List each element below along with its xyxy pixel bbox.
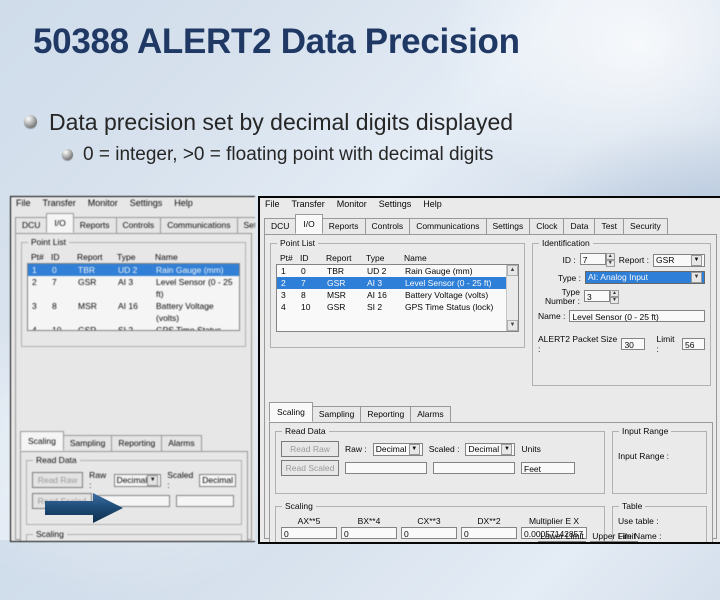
- scaling-label: Scaling: [282, 501, 316, 511]
- menu-transfer[interactable]: Transfer: [43, 198, 76, 213]
- id-field[interactable]: 7: [580, 253, 606, 265]
- tab-alarms[interactable]: Alarms: [410, 406, 450, 422]
- spinner-up-icon[interactable]: ▲: [606, 253, 615, 260]
- packet-size-label: ALERT2 Packet Size :: [538, 334, 617, 354]
- cell-type: SI 2: [118, 324, 156, 331]
- point-list[interactable]: 1 0 TBR UD 2 Rain Gauge (mm) 2 7 GSR AI …: [276, 264, 519, 332]
- use-table-label: Use table :: [618, 516, 701, 526]
- callout-arrow-icon: [45, 493, 123, 523]
- input-range-group: Input Range Input Range :: [612, 431, 707, 494]
- scaled-format-value: Decimal: [468, 443, 499, 456]
- tab-communications[interactable]: Communications: [409, 218, 486, 234]
- tab-io[interactable]: I/O: [295, 214, 322, 234]
- tab-clock[interactable]: Clock: [529, 218, 564, 234]
- point-list-header: Pt# ID Report Type Name: [276, 253, 519, 264]
- scaled-format-value: Decimal: [202, 474, 233, 487]
- page-title: 50388 ALERT2 Data Precision: [33, 22, 693, 62]
- upper-limit-field[interactable]: 25: [590, 541, 638, 544]
- tab-panel-right: Point List Pt# ID Report Type Name 1 0 T…: [264, 234, 717, 539]
- report-value: GSR: [656, 254, 674, 267]
- scroll-up-icon[interactable]: ▲: [507, 265, 518, 276]
- bullet-text: Data precision set by decimal digits dis…: [49, 108, 513, 137]
- cell-type: AI 16: [118, 300, 156, 324]
- id-stepper[interactable]: 7 ▲▼: [580, 253, 615, 267]
- type-number-label: Type Number :: [538, 288, 580, 306]
- cell-report: MSR: [78, 300, 118, 324]
- point-list-header: Pt# ID Report Type Name: [27, 252, 240, 263]
- menu-help[interactable]: Help: [423, 199, 442, 214]
- tabstrip-right[interactable]: DCU I/O Reports Controls Communications …: [264, 218, 720, 234]
- raw-format-select[interactable]: Decimal ▼: [114, 474, 162, 487]
- col-type: Type: [117, 252, 155, 262]
- chevron-down-icon[interactable]: ▼: [501, 444, 512, 455]
- scaled-format-select[interactable]: Decimal ▼: [465, 443, 515, 456]
- cell-name: Level Sensor (0 - 25 ft): [405, 277, 518, 289]
- input-range-label: Input Range: [619, 426, 671, 436]
- list-item: Data precision set by decimal digits dis…: [24, 108, 714, 137]
- bullet-sphere-icon: [62, 149, 73, 160]
- tab-scaling[interactable]: Scaling: [269, 402, 313, 422]
- cell-pt: 4: [281, 301, 301, 313]
- multiplier-label: Multiplier E X: [521, 516, 587, 526]
- cell-id: 10: [52, 324, 78, 331]
- tab-data[interactable]: Data: [563, 218, 595, 234]
- cell-pt: 1: [281, 265, 301, 277]
- menu-settings[interactable]: Settings: [379, 199, 412, 214]
- tab-reporting[interactable]: Reporting: [111, 435, 162, 451]
- cell-report: TBR: [327, 265, 367, 277]
- cell-report: GSR: [78, 276, 118, 300]
- menu-help[interactable]: Help: [174, 198, 193, 213]
- menu-monitor[interactable]: Monitor: [337, 199, 367, 214]
- cell-name: Battery Voltage (volts): [156, 300, 239, 324]
- read-raw-button[interactable]: Read Raw: [32, 472, 83, 488]
- tab-test[interactable]: Test: [594, 218, 624, 234]
- cell-pt: 2: [281, 277, 301, 289]
- tabstrip-left[interactable]: DCU I/O Reports Controls Communications …: [15, 217, 255, 233]
- units-field[interactable]: Feet: [521, 462, 575, 474]
- name-label: Name :: [538, 311, 565, 321]
- cell-name: GPS Time Status (lock): [405, 301, 518, 313]
- limit-label: Limit :: [657, 334, 678, 354]
- raw-label: Raw :: [345, 444, 367, 454]
- inner-tabstrip-left[interactable]: Scaling Sampling Reporting Alarms: [20, 435, 251, 451]
- identification-label: Identification: [539, 238, 593, 248]
- raw-format-select[interactable]: Decimal ▼: [373, 443, 423, 456]
- raw-format-value: Decimal: [376, 443, 407, 456]
- cell-type: UD 2: [118, 264, 156, 276]
- cell-name: Battery Voltage (volts): [405, 289, 518, 301]
- scroll-down-icon[interactable]: ▼: [507, 320, 518, 331]
- units-label: Units: [521, 444, 540, 454]
- cell-id: 10: [301, 301, 327, 313]
- tab-dcu[interactable]: DCU: [264, 218, 296, 234]
- list-item: 0 = integer, >0 = floating point with de…: [62, 143, 714, 167]
- name-field[interactable]: Level Sensor (0 - 25 ft): [569, 310, 705, 322]
- cell-name: Level Sensor (0 - 25 ft): [156, 276, 239, 300]
- lower-limit-field[interactable]: 0: [538, 541, 586, 544]
- coeff-d-field[interactable]: 0: [461, 527, 517, 539]
- coeff-label-b: BX**4: [341, 516, 397, 526]
- menu-file[interactable]: File: [265, 199, 280, 214]
- table-row[interactable]: 2 7 GSR AI 3 Level Sensor (0 - 25 ft): [28, 276, 239, 300]
- spinner-up-icon[interactable]: ▲: [610, 290, 619, 297]
- cell-pt: 3: [281, 289, 301, 301]
- raw-label: Raw :: [89, 470, 107, 490]
- scaling-label: Scaling: [33, 529, 67, 539]
- cell-type: AI 3: [118, 276, 156, 300]
- table-row[interactable]: 3 8 MSR AI 16 Battery Voltage (volts): [277, 289, 518, 301]
- cell-name: GPS Time Status (lock): [156, 324, 239, 331]
- cell-type: UD 2: [367, 265, 405, 277]
- read-raw-button[interactable]: Read Raw: [281, 441, 339, 457]
- menubar-left[interactable]: File Transfer Monitor Settings Help: [11, 197, 255, 213]
- cell-id: 7: [301, 277, 327, 289]
- cell-type: AI 16: [367, 289, 405, 301]
- cell-pt: 3: [32, 300, 52, 324]
- cell-report: GSR: [327, 277, 367, 289]
- scaled-value-field[interactable]: [176, 495, 234, 507]
- menu-transfer[interactable]: Transfer: [292, 199, 325, 214]
- menu-settings[interactable]: Settings: [130, 198, 163, 213]
- screenshot-left: File Transfer Monitor Settings Help DCU …: [10, 196, 255, 542]
- cell-name: Rain Gauge (mm): [405, 265, 518, 277]
- menubar-right[interactable]: File Transfer Monitor Settings Help: [260, 198, 720, 214]
- chevron-down-icon[interactable]: ▼: [691, 255, 702, 266]
- point-list-group: Point List Pt# ID Report Type Name 1 0 T…: [270, 243, 525, 348]
- type-number-stepper[interactable]: 3 ▲▼: [584, 290, 619, 304]
- type-value: AI: Analog Input: [588, 271, 648, 284]
- cell-report: GSR: [78, 324, 118, 331]
- point-list-label: Point List: [277, 238, 318, 248]
- col-pt: Pt#: [280, 253, 300, 263]
- table-row[interactable]: 1 0 TBR UD 2 Rain Gauge (mm): [28, 264, 239, 276]
- spinner-down-icon[interactable]: ▼: [606, 260, 615, 267]
- cell-id: 8: [301, 289, 327, 301]
- cell-report: GSR: [327, 301, 367, 313]
- col-report: Report: [326, 253, 366, 263]
- coeff-label-c: CX**3: [401, 516, 457, 526]
- packet-size-field[interactable]: 30: [621, 338, 644, 350]
- screenshot-right: File Transfer Monitor Settings Help DCU …: [258, 196, 720, 544]
- col-name: Name: [404, 253, 517, 263]
- coeff-c-field[interactable]: 0: [401, 527, 457, 539]
- tab-dcu[interactable]: DCU: [15, 217, 47, 233]
- tab-controls[interactable]: Controls: [365, 218, 411, 234]
- inner-tabstrip-right[interactable]: Scaling Sampling Reporting Alarms: [269, 406, 716, 422]
- report-select[interactable]: GSR ▼: [653, 254, 705, 267]
- table-row[interactable]: 2 7 GSR AI 3 Level Sensor (0 - 25 ft): [277, 277, 518, 289]
- col-name: Name: [155, 252, 238, 262]
- read-data-label: Read Data: [282, 426, 329, 436]
- cell-id: 0: [52, 264, 78, 276]
- tab-io[interactable]: I/O: [46, 213, 73, 233]
- cell-id: 8: [52, 300, 78, 324]
- point-list-label: Point List: [28, 237, 69, 247]
- cell-pt: 4: [32, 324, 52, 331]
- col-id: ID: [51, 252, 77, 262]
- scaling-group-left: Scaling AX**5 BX**4 CX**3 DX**2 0 0 0 0: [26, 534, 242, 542]
- input-range-field-label: Input Range :: [618, 451, 701, 461]
- screenshot-strip: File Transfer Monitor Settings Help DCU …: [10, 196, 720, 540]
- table-row[interactable]: 3 8 MSR AI 16 Battery Voltage (volts): [28, 300, 239, 324]
- table-row[interactable]: 4 10 GSR SI 2 GPS Time Status (lock): [277, 301, 518, 313]
- point-list-scrollbar[interactable]: ▲ ▼: [506, 265, 518, 331]
- scaled-label: Scaled :: [429, 444, 460, 454]
- type-number-field[interactable]: 3: [584, 290, 610, 302]
- point-list-group: Point List Pt# ID Report Type Name 1 0 T…: [21, 242, 246, 347]
- scaled-label: Scaled :: [167, 470, 193, 490]
- point-list[interactable]: 1 0 TBR UD 2 Rain Gauge (mm) 2 7 GSR AI …: [27, 263, 240, 331]
- tab-scaling[interactable]: Scaling: [20, 431, 64, 451]
- spinner-down-icon[interactable]: ▼: [610, 297, 619, 304]
- tab-reports[interactable]: Reports: [322, 218, 366, 234]
- chevron-down-icon[interactable]: ▼: [691, 272, 702, 283]
- scaled-value-field[interactable]: [433, 462, 515, 474]
- identification-group: Identification ID : 7 ▲▼ Report : GSR ▼: [532, 243, 711, 386]
- cell-type: AI 3: [367, 277, 405, 289]
- coeff-a-field[interactable]: 0: [281, 527, 337, 539]
- chevron-down-icon[interactable]: ▼: [147, 475, 158, 486]
- read-data-label: Read Data: [33, 455, 80, 465]
- read-data-group: Read Data Read Raw Raw : Decimal ▼ Scale…: [275, 431, 605, 494]
- type-select[interactable]: AI: Analog Input ▼: [585, 271, 705, 284]
- bullet-text: 0 = integer, >0 = floating point with de…: [83, 143, 493, 167]
- type-label: Type :: [558, 273, 581, 283]
- menu-file[interactable]: File: [16, 198, 31, 213]
- coeff-b-field[interactable]: 0: [341, 527, 397, 539]
- cell-name: Rain Gauge (mm): [156, 264, 239, 276]
- scaled-format-select[interactable]: Decimal: [199, 474, 236, 487]
- col-id: ID: [300, 253, 326, 263]
- cell-type: SI 2: [367, 301, 405, 313]
- cell-report: TBR: [78, 264, 118, 276]
- cell-report: MSR: [327, 289, 367, 301]
- limit-field[interactable]: 56: [682, 338, 705, 350]
- tab-security[interactable]: Security: [623, 218, 668, 234]
- tab-settings[interactable]: Settings: [237, 217, 256, 233]
- table-label: Table: [619, 501, 645, 511]
- col-report: Report: [77, 252, 117, 262]
- report-label: Report :: [619, 255, 649, 265]
- coeff-label-d: DX**2: [461, 516, 517, 526]
- raw-format-value: Decimal: [117, 474, 148, 487]
- cell-id: 0: [301, 265, 327, 277]
- col-type: Type: [366, 253, 404, 263]
- cell-id: 7: [52, 276, 78, 300]
- limits-row: Lower Limit 0 Upper Limit 25: [538, 531, 638, 544]
- tab-controls[interactable]: Controls: [116, 217, 162, 233]
- table-row[interactable]: 4 10 GSR SI 2 GPS Time Status (lock): [28, 324, 239, 331]
- raw-value-field[interactable]: [345, 462, 427, 474]
- tab-settings[interactable]: Settings: [486, 218, 531, 234]
- inner-tab-panel-right: Read Data Read Raw Raw : Decimal ▼ Scale…: [269, 422, 713, 544]
- menu-monitor[interactable]: Monitor: [88, 198, 118, 213]
- id-label: ID :: [563, 255, 576, 265]
- col-pt: Pt#: [31, 252, 51, 262]
- chevron-down-icon[interactable]: ▼: [409, 444, 420, 455]
- tab-alarms[interactable]: Alarms: [161, 435, 201, 451]
- bullet-sphere-icon: [24, 115, 37, 128]
- tab-sampling[interactable]: Sampling: [312, 406, 361, 422]
- cell-pt: 2: [32, 276, 52, 300]
- tab-reports[interactable]: Reports: [73, 217, 117, 233]
- tab-sampling[interactable]: Sampling: [63, 435, 112, 451]
- tab-reporting[interactable]: Reporting: [360, 406, 411, 422]
- table-row[interactable]: 1 0 TBR UD 2 Rain Gauge (mm): [277, 265, 518, 277]
- coeff-label-a: AX**5: [281, 516, 337, 526]
- tab-communications[interactable]: Communications: [160, 217, 237, 233]
- cell-pt: 1: [32, 264, 52, 276]
- read-scaled-button[interactable]: Read Scaled: [281, 460, 339, 476]
- bullet-list: Data precision set by decimal digits dis…: [24, 108, 714, 167]
